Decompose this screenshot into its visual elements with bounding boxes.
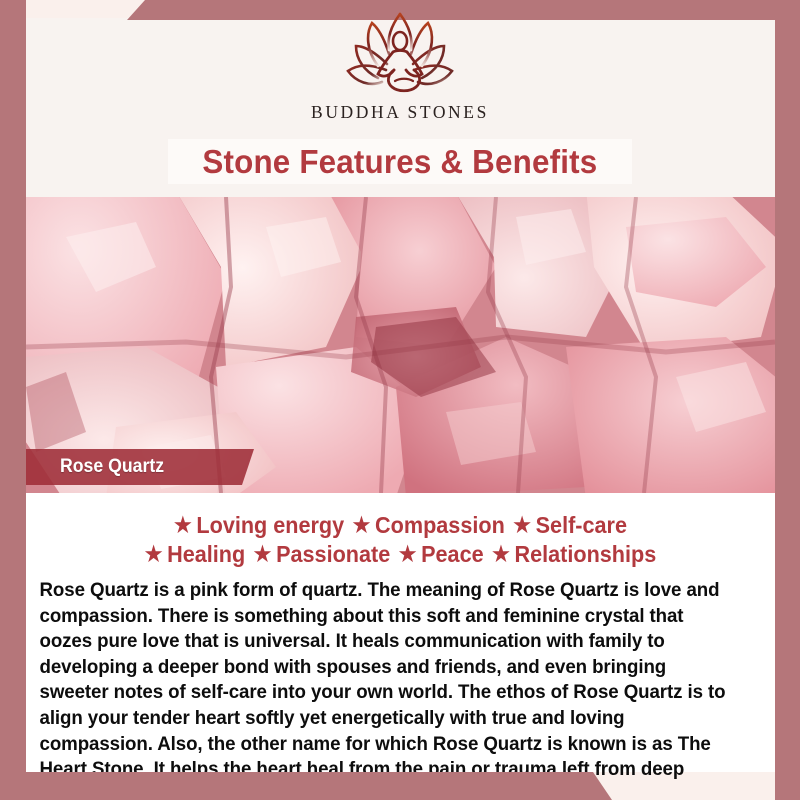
- stone-photo: [26, 197, 775, 493]
- description-text: Rose Quartz is a pink form of quartz. Th…: [26, 569, 749, 800]
- content-card: ★Loving energy★Compassion★Self-care★Heal…: [26, 493, 775, 772]
- brand-logo: BUDDHA STONES: [0, 8, 800, 123]
- keyword-label: Passionate: [276, 541, 390, 567]
- star-icon: ★: [353, 512, 371, 540]
- star-icon: ★: [513, 512, 531, 540]
- keyword-item: ★Self-care: [505, 511, 627, 540]
- stone-name: Rose Quartz: [60, 456, 164, 478]
- keyword-label: Relationships: [514, 541, 656, 567]
- keyword-row: ★Healing★Passionate★Peace★Relationships: [65, 540, 735, 569]
- keyword-item: ★Compassion: [344, 511, 505, 540]
- page-title: Stone Features & Benefits: [203, 143, 598, 181]
- stone-name-banner: Rose Quartz: [26, 449, 254, 485]
- keyword-label: Loving energy: [196, 512, 344, 538]
- brand-name: BUDDHA STONES: [311, 102, 489, 123]
- rose-quartz-photo-art: [26, 197, 775, 493]
- keyword-label: Healing: [167, 541, 245, 567]
- keyword-item: ★Relationships: [484, 540, 657, 569]
- keyword-item: ★Passionate: [245, 540, 390, 569]
- lotus-meditation-icon: [334, 8, 466, 100]
- star-icon: ★: [174, 512, 192, 540]
- keyword-item: ★Loving energy: [174, 511, 344, 540]
- star-icon: ★: [145, 541, 163, 569]
- star-icon: ★: [399, 541, 417, 569]
- keyword-item: ★Healing: [145, 540, 245, 569]
- keyword-label: Compassion: [375, 512, 505, 538]
- star-icon: ★: [492, 541, 510, 569]
- benefit-keywords: ★Loving energy★Compassion★Self-care★Heal…: [26, 493, 775, 569]
- keyword-row: ★Loving energy★Compassion★Self-care: [65, 511, 735, 540]
- star-icon: ★: [254, 541, 272, 569]
- keyword-label: Peace: [421, 541, 484, 567]
- title-bar: Stone Features & Benefits: [168, 139, 632, 184]
- keyword-label: Self-care: [536, 512, 627, 538]
- stone-benefits-poster: BUDDHA STONES Stone Features & Benefits: [0, 0, 800, 800]
- keyword-item: ★Peace: [390, 540, 483, 569]
